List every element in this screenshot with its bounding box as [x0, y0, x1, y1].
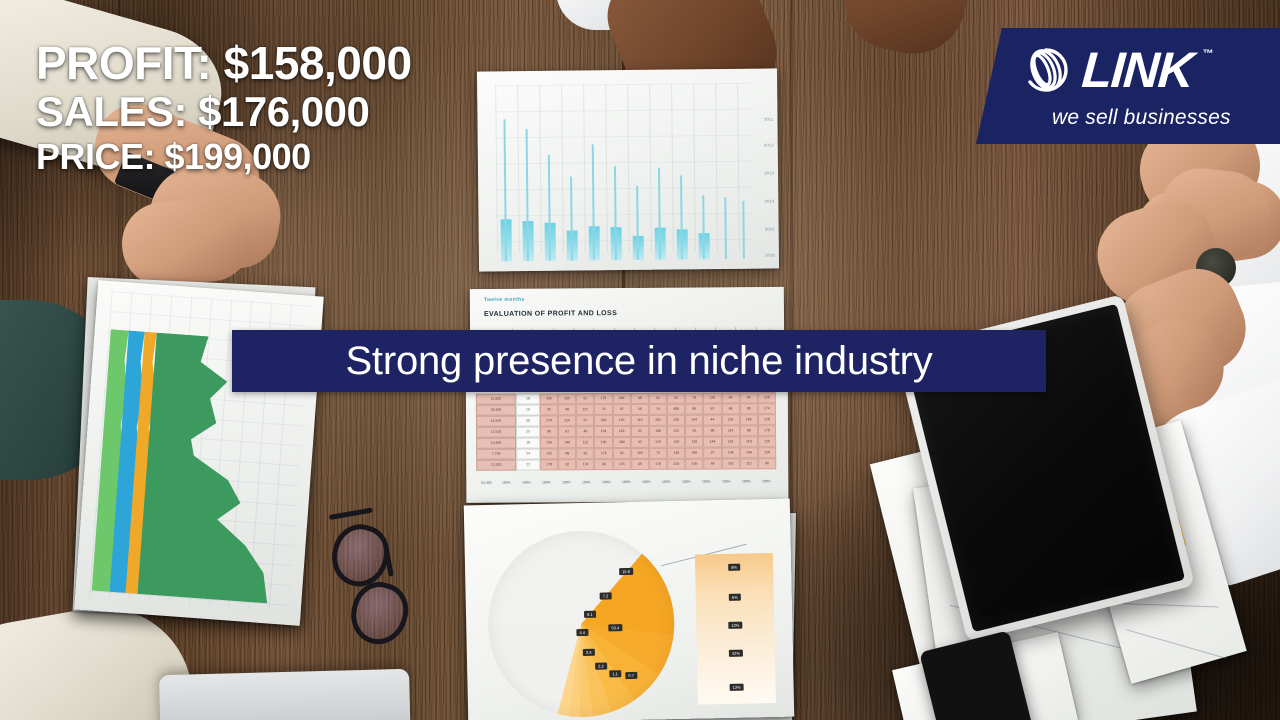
table-cell: 46 — [576, 426, 594, 437]
table-cell: 91 — [685, 426, 703, 437]
subtitle-text: Strong presence in niche industry — [345, 339, 932, 384]
table-cell: 86 — [685, 404, 703, 415]
subtitle-banner: Strong presence in niche industry — [232, 330, 1046, 392]
table-cell: 92 — [613, 448, 631, 459]
table-footer-cell: 100% — [556, 478, 576, 487]
table-cell: 92 — [558, 459, 576, 470]
table-footer-cell: 100% — [536, 478, 556, 487]
table-cell: 128 — [758, 414, 776, 425]
table-cell: 120 — [703, 393, 721, 404]
chart-line — [1126, 629, 1226, 659]
table-row-header: 12,520 — [476, 427, 516, 438]
trademark-symbol: ™ — [1203, 48, 1214, 60]
table-cell: 134 — [594, 426, 612, 437]
link-logo-badge[interactable]: LINK ™ we sell businesses — [976, 28, 1280, 144]
chart-axis-tick: 2011 — [764, 116, 773, 121]
table-cell: 155 — [613, 459, 631, 470]
table-cell: 112 — [740, 458, 758, 469]
table-cell: 75 — [649, 448, 667, 459]
table-cell: 93 — [667, 393, 685, 404]
table-cell: 180 — [613, 437, 631, 448]
stats-overlay: PROFIT: $158,000 SALES: $176,000 PRICE: … — [36, 40, 412, 175]
table-cell: 88 — [558, 448, 576, 459]
table-cell: 70 — [685, 393, 703, 404]
pie-chart-legend: 8% 6% 12% 42% 13% — [695, 553, 776, 705]
table-cell: 178 — [595, 448, 613, 459]
table-cell: 116 — [631, 415, 649, 426]
legend-entry: 42% — [729, 650, 743, 657]
table-cell: 88 — [703, 426, 721, 437]
pie-slice-label: 15.6 — [619, 568, 633, 575]
table-cell: 74 — [649, 404, 667, 415]
table-cell: 130 — [595, 437, 613, 448]
table-cell: 126 — [721, 414, 739, 425]
table-cell: 88 — [740, 425, 758, 436]
table-footer-cell: 64,300 — [476, 479, 496, 488]
table-footer-cell: 100% — [696, 478, 716, 487]
table-cell: 195 — [685, 459, 703, 470]
table-cell: 87 — [558, 426, 576, 437]
table-row: 12,010 22 178 92 174 96 155 46 178 210 1… — [476, 458, 776, 471]
table-footer-cell: 100% — [756, 477, 776, 486]
table-cell: 146 — [722, 447, 740, 458]
table-footer-cell: 100% — [516, 478, 536, 487]
table-cell: 145 — [613, 415, 631, 426]
legend-entry: 13% — [730, 684, 744, 691]
table-cell: 274 — [540, 415, 558, 426]
table-cell: 174 — [576, 459, 594, 470]
table-cell: 97 — [576, 415, 594, 426]
video-frame: 2011 2012 2013 2014 2015 2016 Twelve mon… — [0, 0, 1280, 720]
table-cell: 29 — [631, 404, 649, 415]
chart-axis-tick: 2012 — [764, 142, 774, 147]
table-cell: 216 — [558, 415, 576, 426]
table-cell: 132 — [576, 404, 594, 415]
bar-chart-paper: 2011 2012 2013 2014 2015 2016 — [477, 68, 779, 271]
table-cell: 62 — [631, 426, 649, 437]
table-cell: 170 — [649, 437, 667, 448]
table-cell: 118 — [667, 437, 685, 448]
table-cell: 488 — [667, 404, 685, 415]
table-cell: 48 — [721, 392, 739, 403]
table-footer-cell: 100% — [576, 478, 596, 487]
table-cell: 336 — [540, 393, 558, 404]
table-cell: 76 — [594, 404, 612, 415]
table-cell: 290 — [612, 393, 630, 404]
table-cell: 118 — [740, 436, 758, 447]
table-cell: 165 — [649, 415, 667, 426]
table-cell: 126 — [613, 426, 631, 437]
logo-row: LINK ™ — [1020, 44, 1214, 96]
eyeglasses-bridge — [384, 550, 393, 576]
table-cell: 178 — [540, 459, 558, 470]
table-row-number: 24 — [516, 448, 540, 459]
pie-slice-label: 2.2 — [595, 662, 607, 669]
chart-line — [1123, 603, 1219, 607]
table-cell: 96 — [595, 459, 613, 470]
table-cell: 114 — [722, 425, 740, 436]
table-footer-cell: 100% — [496, 479, 516, 488]
table-cell: 125 — [540, 448, 558, 459]
table-cell: 178 — [649, 459, 667, 470]
table-cell: 210 — [667, 459, 685, 470]
table-cell: 180 — [740, 414, 758, 425]
table-cell: 92 — [649, 393, 667, 404]
chart-axis-tick: 2013 — [764, 170, 774, 175]
table-footer-cell: 100% — [736, 477, 756, 486]
table-row-header: 14,910 — [476, 416, 516, 427]
table-cell: 128 — [758, 392, 776, 403]
table-cell: 92 — [631, 437, 649, 448]
table-row-header: 12,010 — [476, 460, 516, 471]
table-row-header: 15,000 — [476, 394, 516, 405]
table-cell: 180 — [594, 415, 612, 426]
eyeglasses-lens-right — [344, 576, 415, 651]
table-footer-cell: 100% — [716, 477, 736, 486]
table-row-number: 18 — [516, 437, 540, 448]
table-cell: 174 — [758, 403, 776, 414]
table-row-header: 7,750 — [476, 449, 516, 460]
pie-slice-label: 0.7 — [625, 672, 637, 679]
table-cell: 68 — [721, 403, 739, 414]
table-cell: 68 — [704, 459, 722, 470]
table-row-number: 28 — [516, 393, 540, 404]
table-body: 15,000 28 336 236 91 178 290 48 92 93 70… — [476, 392, 776, 471]
table-cell: 88 — [740, 403, 758, 414]
table-row-number: 22 — [516, 459, 540, 470]
table-footer-cell: 100% — [656, 478, 676, 487]
table-cell: 126 — [758, 436, 776, 447]
table-cell: 115 — [667, 426, 685, 437]
table-cell: 178 — [594, 393, 612, 404]
table-cell: 44 — [703, 415, 721, 426]
table-cell: 144 — [703, 437, 721, 448]
table-cell: 91 — [576, 393, 594, 404]
table-cell: 146 — [558, 437, 576, 448]
pie-slice-label: 7.2 — [600, 592, 612, 599]
market-share-pie-chart — [486, 529, 676, 719]
table-cell: 128 — [758, 447, 776, 458]
table-row-header: 30,100 — [476, 405, 516, 416]
table-row-number: 30 — [516, 415, 540, 426]
legend-entry: 6% — [729, 594, 741, 601]
profit-loss-title: EVALUATION OF PROFIT AND LOSS — [484, 310, 617, 318]
table-cell: 96 — [758, 458, 776, 469]
table-cell: 48 — [558, 404, 576, 415]
chart-axis-tick: 2015 — [765, 226, 775, 231]
table-cell: 92 — [703, 404, 721, 415]
legend-entry: 8% — [728, 564, 740, 571]
legend-entry: 12% — [728, 622, 742, 629]
table-cell: 46 — [631, 459, 649, 470]
table-cell: 156 — [631, 448, 649, 459]
table-footer-row: 64,300 100% 100% 100% 100% 100% 100% 100… — [476, 477, 776, 488]
table-cell: 97 — [704, 448, 722, 459]
pie-slice-label: 6.1 — [584, 611, 596, 618]
pie-slice-label: 1.1 — [609, 670, 621, 677]
table-row-number: 25 — [516, 426, 540, 437]
table-cell: 91 — [576, 448, 594, 459]
table-cell: 136 — [540, 437, 558, 448]
table-cell: 148 — [740, 447, 758, 458]
table-cell: 244 — [685, 415, 703, 426]
table-cell: 96 — [740, 392, 758, 403]
table-cell: 236 — [558, 393, 576, 404]
table-cell: 186 — [685, 448, 703, 459]
pie-chart-paper: 15.6 7.2 6.1 4.4 3.3 2.2 1.1 0.7 59.4 8%… — [464, 499, 794, 720]
stat-price: PRICE: $199,000 — [36, 138, 412, 175]
table-row-header: 14,400 — [476, 438, 516, 449]
pie-slice-label-main: 59.4 — [608, 624, 622, 631]
table-cell: 162 — [722, 436, 740, 447]
pie-slice-label: 3.3 — [583, 649, 595, 656]
table-cell: 136 — [685, 437, 703, 448]
table-footer-cell: 100% — [676, 478, 696, 487]
table-footer-cell: 100% — [636, 478, 656, 487]
table-cell: 35 — [613, 404, 631, 415]
table-cell: 118 — [667, 448, 685, 459]
stat-sales: SALES: $176,000 — [36, 90, 412, 134]
chart-gridlines — [495, 83, 753, 254]
table-cell: 95 — [540, 404, 558, 415]
link-swirl-icon — [1020, 44, 1072, 96]
table-cell: 88 — [540, 426, 558, 437]
table-cell: 48 — [631, 393, 649, 404]
chart-axis-tick: 2016 — [765, 252, 775, 257]
link-wordmark: LINK — [1080, 45, 1194, 95]
profit-loss-kicker: Twelve months — [484, 297, 525, 303]
table-footer-cell: 100% — [616, 478, 636, 487]
table-cell: 178 — [758, 425, 776, 436]
table-cell: 138 — [667, 415, 685, 426]
link-tagline: we sell businesses — [1052, 106, 1231, 130]
laptop-device[interactable] — [159, 669, 411, 720]
table-cell: 108 — [649, 426, 667, 437]
table-cell: 162 — [722, 458, 740, 469]
pie-slice-label: 4.4 — [576, 629, 588, 636]
table-cell: 112 — [576, 437, 594, 448]
table-footer-cell: 100% — [596, 478, 616, 487]
chart-axis-tick: 2014 — [765, 198, 775, 203]
stat-profit: PROFIT: $158,000 — [36, 40, 412, 88]
table-row-number: 19 — [516, 404, 540, 415]
